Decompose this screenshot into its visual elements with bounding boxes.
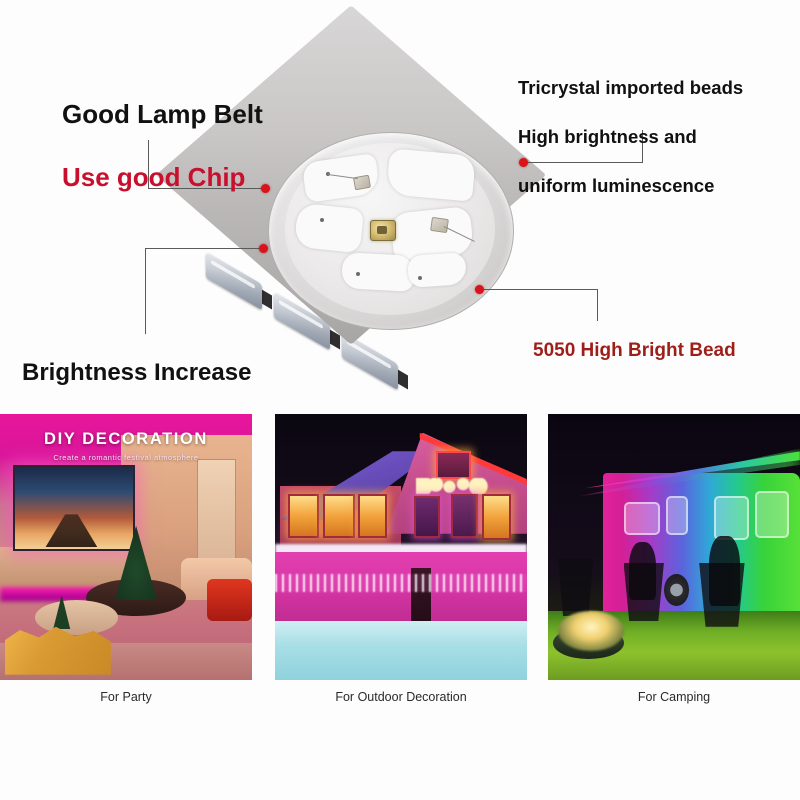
caption-for-party: For Party <box>0 690 252 704</box>
outdoor-house-lower-wall <box>275 552 527 632</box>
party-red-chair <box>207 579 252 622</box>
outdoor-window <box>482 494 511 541</box>
caption-for-outdoor-decoration: For Outdoor Decoration <box>275 690 527 704</box>
leader-line-bead <box>483 289 597 290</box>
outdoor-window <box>288 494 320 538</box>
camping-chair <box>558 558 593 617</box>
camping-rv-window <box>714 496 748 540</box>
caption-for-camping: For Camping <box>548 690 800 704</box>
scenario-image-camping <box>548 414 800 680</box>
camping-person <box>629 542 657 601</box>
led-center-die-chip <box>370 220 396 241</box>
callout-brightness-line1: Brightness Increase <box>22 359 251 387</box>
callout-dot-brightness <box>259 244 268 253</box>
camping-person <box>709 536 739 605</box>
scenario-image-outdoor <box>275 414 527 680</box>
callout-good-lamp-line1: Good Lamp Belt <box>62 99 263 130</box>
led-internal-pad <box>341 252 415 292</box>
camping-rv-window <box>624 502 661 535</box>
scenario-image-party: DIY DECORATION Create a romantic festiva… <box>0 414 252 680</box>
outdoor-window <box>414 496 441 537</box>
bond-pad-dot <box>320 218 324 222</box>
party-overlay-subtitle: Create a romantic festival atmosphere <box>0 453 252 462</box>
bond-pad-dot <box>356 272 360 276</box>
party-tv-pier-image <box>45 514 97 547</box>
led-die-chip <box>430 217 449 233</box>
camping-rv-wheel <box>664 574 689 606</box>
infographic-stage: Good Lamp Belt Use good Chip Tricrystal … <box>0 0 800 800</box>
outdoor-window <box>451 494 478 538</box>
party-side-table <box>35 600 118 635</box>
callout-tricrystal-beads: Tricrystal imported beads High brightnes… <box>518 52 743 223</box>
led-internal-pad <box>294 203 364 254</box>
camping-rv-window <box>755 491 789 538</box>
outdoor-window <box>358 494 387 538</box>
outdoor-snow-ground <box>275 621 527 680</box>
camping-scene <box>548 414 800 680</box>
leader-line-brightness <box>145 248 146 334</box>
outdoor-window <box>436 451 470 479</box>
callout-tricrystal-line1: Tricrystal imported beads <box>518 76 743 100</box>
outdoor-garland-lights <box>275 574 527 593</box>
bond-pad-dot <box>418 276 422 280</box>
outdoor-string-lights <box>416 478 492 494</box>
usage-scenario-panels: DIY DECORATION Create a romantic festiva… <box>0 414 800 680</box>
camping-rv-window <box>666 496 688 535</box>
party-overlay-title: DIY DECORATION <box>0 430 252 449</box>
callout-tricrystal-line3: uniform luminescence <box>518 174 743 198</box>
outdoor-scene <box>275 414 527 680</box>
callout-5050-line1: 5050 High Bright Bead <box>533 340 736 362</box>
callout-good-lamp-line2: Use good Chip <box>62 162 263 193</box>
outdoor-window <box>323 494 355 538</box>
callout-tricrystal-line2: High brightness and <box>518 125 743 149</box>
callout-dot-bead <box>475 285 484 294</box>
party-tv-screen <box>13 465 135 551</box>
callout-good-lamp-belt: Good Lamp Belt Use good Chip <box>62 68 263 223</box>
leader-line-bead <box>597 289 598 321</box>
camping-fire-glow <box>558 611 624 651</box>
leader-line-brightness <box>145 248 263 249</box>
callout-5050-bead: 5050 High Bright Bead <box>533 318 736 385</box>
